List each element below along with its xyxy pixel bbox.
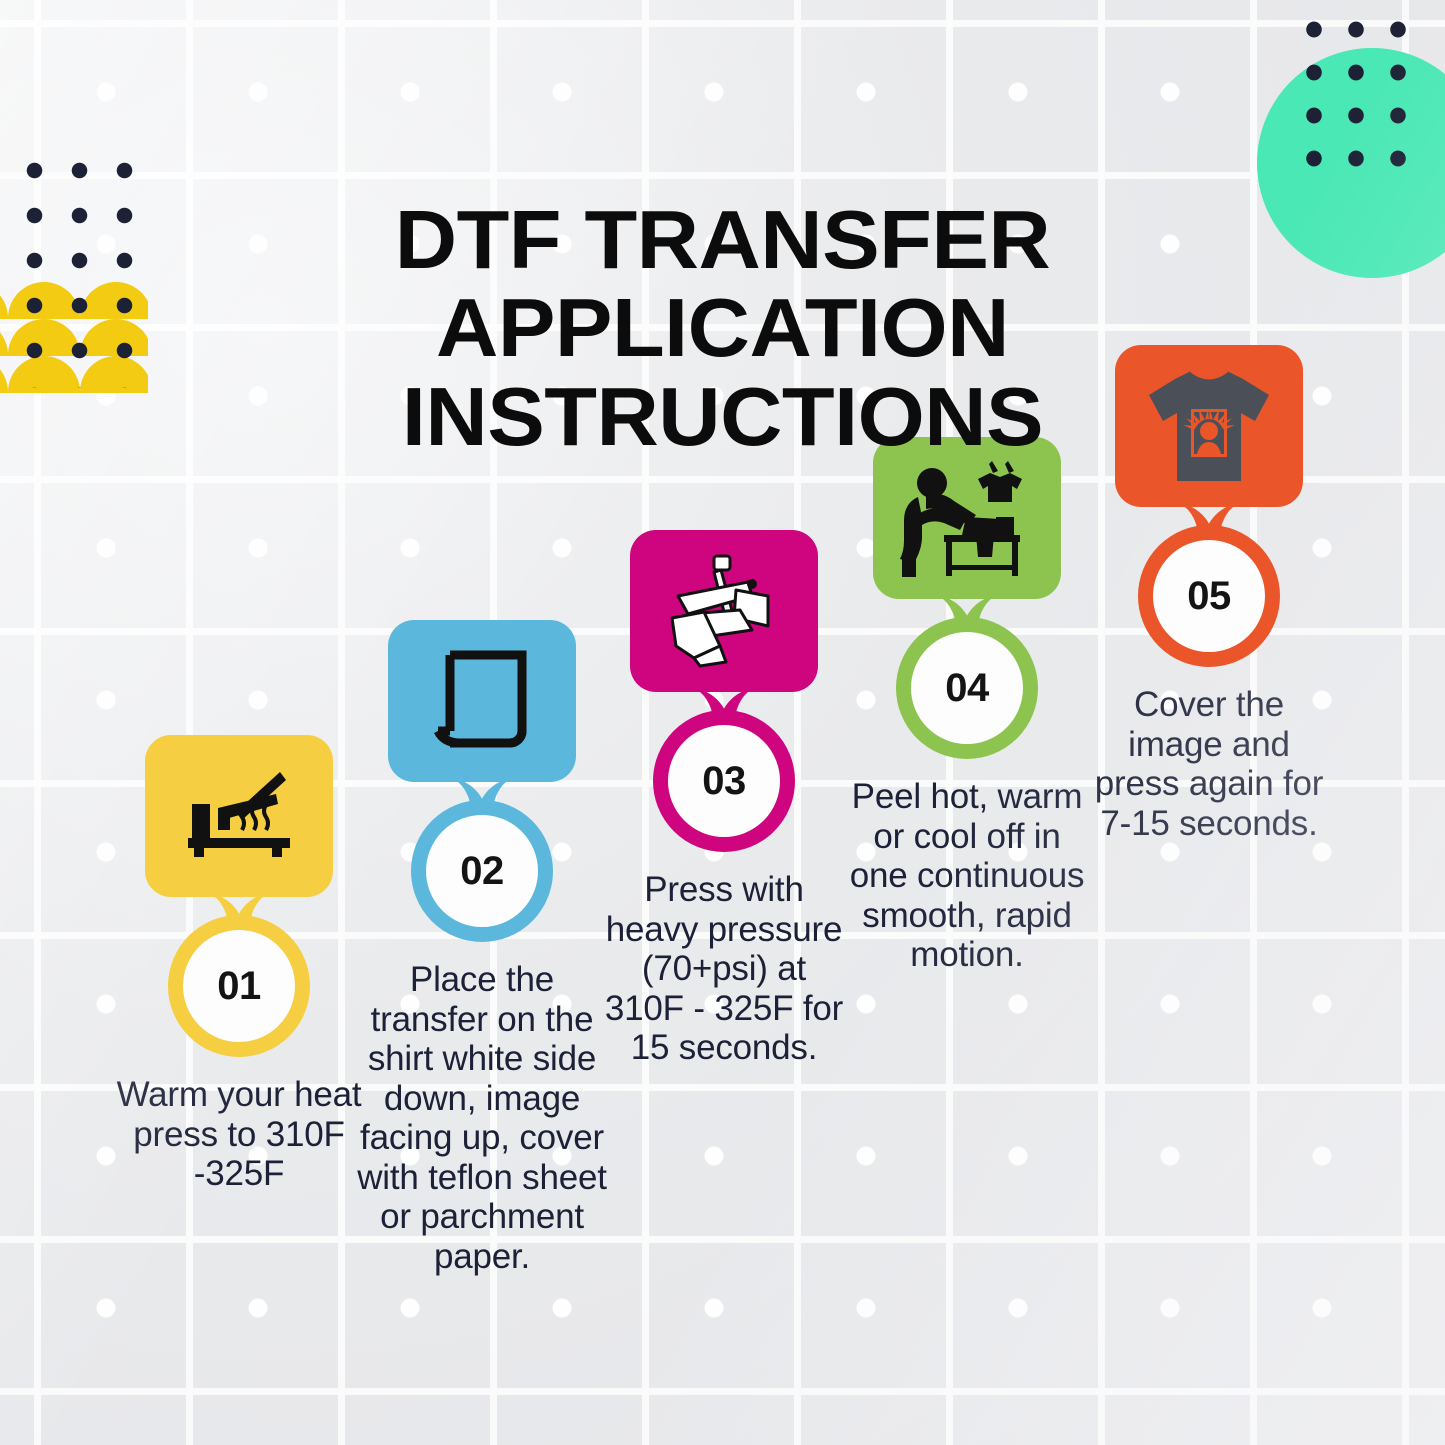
step-03-card[interactable] [630, 530, 818, 692]
step-03-number: 03 [702, 761, 746, 801]
step-03-caption: Press with heavy pressure (70+psi) at 31… [599, 870, 849, 1068]
step-03-connector: 03 [659, 688, 789, 852]
infographic-poster: DTF TRANSFER APPLICATION INSTRUCTIONS [0, 0, 1445, 1445]
step-01-card[interactable] [145, 735, 333, 897]
heat-press-open-icon [180, 768, 298, 864]
step-01-caption: Warm your heat press to 310F -325F [114, 1075, 364, 1194]
step-05-number: 05 [1187, 576, 1231, 616]
step-02: 02 Place the transfer on the shirt white… [358, 620, 606, 1311]
step-05-caption: Cover the image and press again for 7-15… [1084, 685, 1334, 843]
heat-press-machine-icon [664, 552, 784, 670]
step-05-connector: 05 [1144, 503, 1274, 667]
step-01-connector: 01 [174, 893, 304, 1057]
step-02-number: 02 [460, 851, 504, 891]
step-04-number: 04 [945, 668, 989, 708]
step-04-connector: 04 [902, 595, 1032, 759]
peel-transfer-person-icon [896, 457, 1038, 579]
transfer-sheet-icon [430, 647, 534, 755]
step-03: 03 Press with heavy pressure (70+psi) at… [600, 530, 848, 1103]
step-02-card[interactable] [388, 620, 576, 782]
page-title: DTF TRANSFER APPLICATION INSTRUCTIONS [0, 196, 1445, 462]
step-04-caption: Peel hot, warm or cool off in one contin… [842, 777, 1092, 975]
step-02-connector: 02 [417, 778, 547, 942]
step-04: 04 Peel hot, warm or cool off in one con… [843, 437, 1091, 1010]
step-01: 01 Warm your heat press to 310F -325F [115, 735, 363, 1229]
step-01-number: 01 [217, 966, 261, 1006]
step-02-caption: Place the transfer on the shirt white si… [357, 960, 607, 1276]
